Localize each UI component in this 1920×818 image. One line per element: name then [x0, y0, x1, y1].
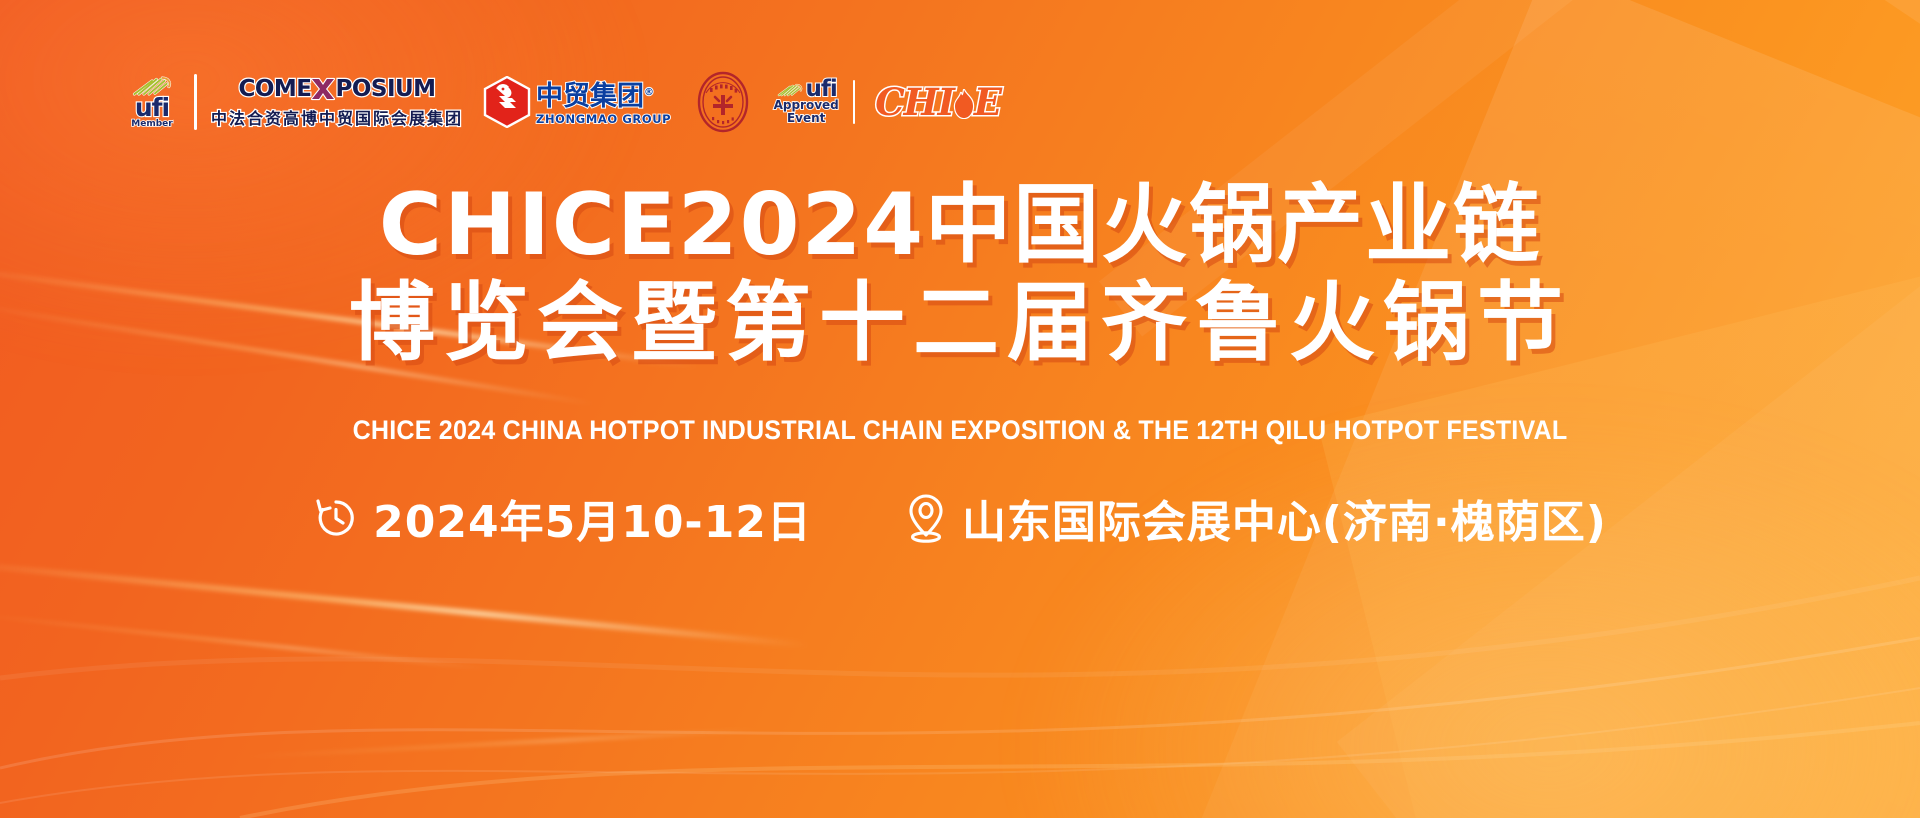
logo-ufi-approved-event: ufi Approved Event — [775, 79, 837, 125]
ufi-member-wordmark: ufi — [135, 97, 169, 118]
logo-divider-1 — [194, 74, 197, 130]
ufi-approved-line-2: Event — [787, 112, 825, 125]
sponsor-logo-strip: ufi Member COME POSIUM 中法合资高博中贸国际会展集团 — [124, 66, 1001, 138]
zhongmao-chinese-text: 中贸集团 — [536, 81, 644, 112]
ufi-approved-wing-icon — [776, 81, 804, 99]
location-pin-icon — [904, 493, 948, 543]
comexposium-x-icon — [310, 77, 336, 101]
comexposium-word-2: POSIUM — [335, 76, 435, 102]
headline-subtitle-english: CHICE 2024 CHINA HOTPOT INDUSTRIAL CHAIN… — [67, 415, 1853, 446]
event-venue: 山东国际会展中心(济南·槐荫区) — [904, 486, 1607, 550]
comexposium-word-1: COME — [238, 76, 311, 102]
headline-line-1: CHICE2024中国火锅产业链 — [0, 176, 1920, 274]
comexposium-chinese-name: 中法合资高博中贸国际会展集团 — [211, 105, 463, 129]
chice-flame-icon — [951, 89, 977, 119]
event-banner: ufi Member COME POSIUM 中法合资高博中贸国际会展集团 — [0, 0, 1920, 818]
ufi-member-sublabel: Member — [131, 119, 172, 129]
event-venue-text: 山东国际会展中心(济南·槐荫区) — [962, 486, 1607, 550]
comexposium-wordmark: COME POSIUM — [238, 76, 435, 102]
zhongmao-chinese-name: 中贸集团® — [536, 79, 671, 111]
zhongmao-horse-mark-icon — [483, 76, 531, 128]
bg-facet-upper-right-1 — [1093, 0, 1920, 26]
logo-chice: CHI E — [875, 80, 1001, 124]
headline-line-2: 博览会暨第十二届齐鲁火锅节 — [0, 274, 1920, 372]
event-headline: CHICE2024中国火锅产业链 博览会暨第十二届齐鲁火锅节 — [0, 176, 1920, 372]
zhongmao-english-name: ZHONGMAO GROUP — [536, 112, 671, 126]
clock-icon — [313, 495, 359, 541]
logo-zhongmao-group: 中贸集团® ZHONGMAO GROUP — [483, 76, 671, 128]
ufi-approved-wordmark: ufi — [806, 79, 837, 99]
bg-swoosh-curves — [0, 518, 1920, 818]
bg-facet-upper-right-2 — [1227, 0, 1920, 59]
event-info-row: 2024年5月10-12日 山东国际会展中心(济南·槐荫区) — [0, 486, 1920, 550]
logo-comexposium: COME POSIUM 中法合资高博中贸国际会展集团 — [211, 76, 463, 129]
chice-logo-text-right: E — [974, 80, 1001, 124]
registered-mark: ® — [644, 87, 654, 98]
logo-divider-2 — [853, 80, 855, 124]
logo-qilu-seal-icon — [697, 71, 749, 133]
event-date: 2024年5月10-12日 — [313, 486, 812, 550]
chice-logo-text-left: CHI — [875, 80, 954, 124]
logo-ufi-member: ufi Member — [124, 75, 180, 129]
event-date-text: 2024年5月10-12日 — [373, 486, 812, 550]
